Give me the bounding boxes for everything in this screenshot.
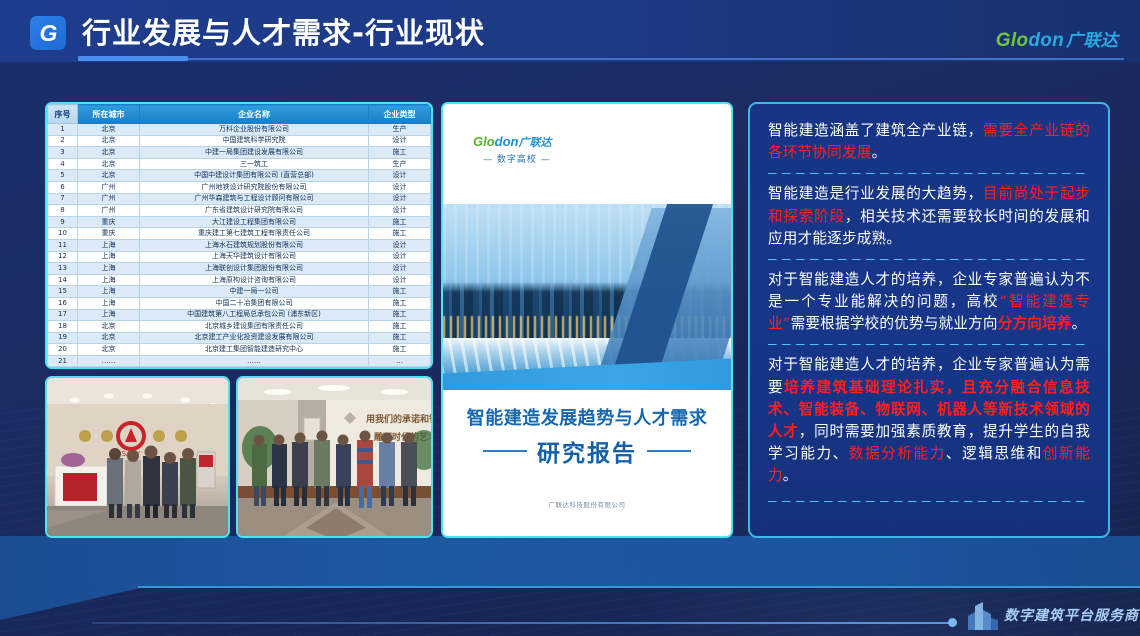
cell-company-name: 上海水石建筑规划股份有限公司	[140, 239, 369, 251]
insights-paragraph-p3: 对于智能建造人才的培养，企业专家普遍认为不是一个专业能解决的问题，高校“智能建造…	[768, 269, 1090, 336]
table-row: 7广州广州华森建筑与工程设计顾问有限公司设计	[48, 193, 431, 205]
text-segment: 。	[783, 467, 798, 484]
table-row: 18北京北京城乡建设集团有限责任公司施工	[48, 321, 431, 333]
building-icon	[966, 600, 1000, 630]
cover-title-line2: 研究报告	[537, 434, 637, 468]
cell-index: 21	[48, 355, 78, 367]
slide-root: G 行业发展与人才需求-行业现状 Glodon广联达 数字建筑平台服务商 序号 …	[0, 0, 1140, 636]
cell-index: 5	[48, 170, 78, 182]
cell-index: 3	[48, 147, 78, 159]
cell-company-type: 施工	[369, 228, 431, 240]
table-row: 15上海中建一局一公司施工	[48, 286, 431, 298]
cell-company-type: 施工	[369, 216, 431, 228]
cell-company-name: 上海联创设计集团股份有限公司	[140, 263, 369, 275]
cell-city: 北京	[78, 344, 140, 356]
cell-company-name: 广州地铁设计研究院股份有限公司	[140, 181, 369, 193]
cell-city: 广州	[78, 205, 140, 217]
col-header-type: 企业类型	[369, 105, 431, 124]
cell-company-type: 施工	[369, 321, 431, 333]
insights-paragraph-p4: 对于智能建造人才的培养，企业专家普遍认为需要培养建筑基础理论扎实，且充分融合信息…	[768, 354, 1090, 487]
text-segment: 需要根据学校的优势与就业方向	[791, 315, 998, 332]
cell-index: 12	[48, 251, 78, 263]
table-row: 1北京万科企业股份有限公司生产	[48, 124, 431, 136]
insights-text-panel: 智能建造涵盖了建筑全产业链，需要全产业链的各环节协同发展。智能建造是行业发展的大…	[748, 102, 1110, 538]
cell-company-name: 中国中建设计集团有限公司 (直营总部)	[140, 170, 369, 182]
table-row: 3北京中建一局集团建设发展有限公司施工	[48, 147, 431, 159]
cover-title-line2-row: 研究报告	[443, 434, 731, 468]
cover-logo-subtitle: — 数字高校 —	[483, 152, 551, 165]
cell-company-name: 广州华森建筑与工程设计顾问有限公司	[140, 193, 369, 205]
cell-company-type: 施工	[369, 286, 431, 298]
cell-index: 10	[48, 228, 78, 240]
footer-tagline: 数字建筑平台服务商	[1004, 605, 1139, 625]
page-title: 行业发展与人才需求-行业现状	[82, 8, 485, 54]
table-body: 1北京万科企业股份有限公司生产2北京中国建筑科学研究院设计3北京中建一局集团建设…	[48, 124, 431, 367]
cell-index: 20	[48, 344, 78, 356]
cover-brand-cn: 广联达	[519, 137, 552, 149]
cell-city: ……	[78, 355, 140, 367]
cell-company-name: 重庆建工第七建筑工程有限责任公司	[140, 228, 369, 240]
cell-city: 上海	[78, 309, 140, 321]
insights-paragraph-p1: 智能建造涵盖了建筑全产业链，需要全产业链的各环节协同发展。	[768, 120, 1090, 164]
table-row: 12上海上海天华建筑设计有限公司设计	[48, 251, 431, 263]
col-header-city: 所在城市	[78, 105, 140, 124]
text-segment: 数据分析能力	[849, 445, 946, 462]
cell-company-name: 中建一局集团建设发展有限公司	[140, 147, 369, 159]
cell-company-name: ……	[140, 355, 369, 367]
cell-company-name: 中国二十冶集团有限公司	[140, 297, 369, 309]
text-segment: 。	[872, 144, 887, 161]
cell-index: 17	[48, 309, 78, 321]
cover-title-rule-right	[647, 450, 691, 452]
glodon-g-icon: G	[30, 16, 66, 50]
glodon-brand-logo: Glodon广联达	[996, 26, 1118, 52]
cell-company-type: 施工	[369, 309, 431, 321]
cell-city: 北京	[78, 170, 140, 182]
cell-city: 上海	[78, 251, 140, 263]
cell-company-name: 中建一局一公司	[140, 286, 369, 298]
cell-company-type: 设计	[369, 251, 431, 263]
insights-divider	[768, 173, 1090, 174]
report-cover-panel: Glodon广联达 — 数字高校 — 智能建造发展趋势与人才需求 研究报告 广联…	[441, 102, 733, 538]
text-segment: 。	[1072, 315, 1087, 332]
cell-city: 广州	[78, 193, 140, 205]
table-header-row: 序号 所在城市 企业名称 企业类型	[48, 105, 431, 124]
cell-index: 9	[48, 216, 78, 228]
cell-company-name: 中国建筑第八工程局总承包公司 (浦东新区)	[140, 309, 369, 321]
cell-company-type: 设计	[369, 274, 431, 286]
cell-company-type: 施工	[369, 147, 431, 159]
svg-text:用我们的承诺和智慧: 用我们的承诺和智慧	[365, 413, 433, 425]
cell-index: 2	[48, 135, 78, 147]
cell-city: 北京	[78, 147, 140, 159]
company-table-panel: 序号 所在城市 企业名称 企业类型 1北京万科企业股份有限公司生产2北京中国建筑…	[45, 102, 433, 369]
cell-company-name: 北京建工集团智能建造研究中心	[140, 344, 369, 356]
title-underline-accent	[78, 56, 188, 61]
cell-company-name: 广东省建筑设计研究院有限公司	[140, 205, 369, 217]
cell-company-type: 生产	[369, 158, 431, 170]
cell-city: 上海	[78, 239, 140, 251]
cell-index: 4	[48, 158, 78, 170]
cell-index: 14	[48, 274, 78, 286]
footer-rule	[92, 622, 952, 624]
table-row: 9重庆大江建设工程集团有限公司施工	[48, 216, 431, 228]
cell-index: 18	[48, 321, 78, 333]
table-row: 20北京北京建工集团智能建造研究中心施工	[48, 344, 431, 356]
table-row: 6广州广州地铁设计研究院股份有限公司设计	[48, 181, 431, 193]
table-row: 2北京中国建筑科学研究院设计	[48, 135, 431, 147]
table-row: 11上海上海水石建筑规划股份有限公司设计	[48, 239, 431, 251]
cell-index: 15	[48, 286, 78, 298]
cell-company-name: 万科企业股份有限公司	[140, 124, 369, 136]
table-row: 14上海上海原构设计咨询有限公司设计	[48, 274, 431, 286]
cell-company-type: 施工	[369, 344, 431, 356]
cell-company-type: 设计	[369, 181, 431, 193]
cell-city: 广州	[78, 181, 140, 193]
text-segment: 、逻辑思维和	[946, 445, 1043, 462]
cell-company-type: 设计	[369, 263, 431, 275]
insights-paragraph-list: 智能建造涵盖了建筑全产业链，需要全产业链的各环节协同发展。智能建造是行业发展的大…	[768, 120, 1090, 487]
cell-city: 北京	[78, 124, 140, 136]
cell-city: 北京	[78, 321, 140, 333]
table-row: 10重庆重庆建工第七建筑工程有限责任公司施工	[48, 228, 431, 240]
table-row: 13上海上海联创设计集团股份有限公司设计	[48, 263, 431, 275]
cell-company-type: 设计	[369, 239, 431, 251]
cell-company-type: 设计	[369, 170, 431, 182]
cell-company-name: 上海天华建筑设计有限公司	[140, 251, 369, 263]
cell-company-name: 三一筑工	[140, 158, 369, 170]
insights-divider	[768, 344, 1090, 345]
cell-company-type: 设计	[369, 193, 431, 205]
cell-company-name: 北京城乡建设集团有限责任公司	[140, 321, 369, 333]
cell-city: 北京	[78, 135, 140, 147]
cell-company-type: …	[369, 355, 431, 367]
table-row: 5北京中国中建设计集团有限公司 (直营总部)设计	[48, 170, 431, 182]
text-segment: 分方向培养	[998, 315, 1072, 332]
cell-city: 上海	[78, 297, 140, 309]
table-row: 17上海中国建筑第八工程局总承包公司 (浦东新区)施工	[48, 309, 431, 321]
cell-city: 上海	[78, 274, 140, 286]
col-header-index: 序号	[48, 105, 78, 124]
cell-city: 北京	[78, 332, 140, 344]
cell-index: 1	[48, 124, 78, 136]
title-underline	[78, 58, 1124, 60]
cell-company-name: 上海原构设计咨询有限公司	[140, 274, 369, 286]
insights-divider	[768, 259, 1090, 260]
photo-company-visit-2: 用我们的承诺和智慧 雕琢时代的艺术品	[236, 376, 433, 538]
cover-brand-don: don	[495, 134, 519, 149]
cover-glodon-logo: Glodon广联达	[473, 134, 552, 150]
cell-company-name: 中国建筑科学研究院	[140, 135, 369, 147]
cell-city: 重庆	[78, 228, 140, 240]
table-row: 16上海中国二十冶集团有限公司施工	[48, 297, 431, 309]
cell-city: 上海	[78, 286, 140, 298]
table-row: 19北京北京建工产业化投资建设发展有限公司施工	[48, 332, 431, 344]
cell-index: 13	[48, 263, 78, 275]
brand-text-cn: 广联达	[1066, 31, 1118, 50]
cell-city: 北京	[78, 158, 140, 170]
cell-index: 11	[48, 239, 78, 251]
cover-title-line1: 智能建造发展趋势与人才需求	[443, 404, 731, 430]
cell-company-type: 生产	[369, 124, 431, 136]
cell-index: 6	[48, 181, 78, 193]
cover-title-rule-left	[483, 450, 527, 452]
brand-text-glo: Glo	[996, 30, 1029, 51]
table-row: 21……………	[48, 355, 431, 367]
cell-index: 7	[48, 193, 78, 205]
cell-company-type: 设计	[369, 205, 431, 217]
footer-dot	[948, 618, 957, 627]
cell-index: 16	[48, 297, 78, 309]
cell-company-name: 北京建工产业化投资建设发展有限公司	[140, 332, 369, 344]
cell-city: 上海	[78, 263, 140, 275]
text-segment: 智能建造涵盖了建筑全产业链，	[768, 122, 983, 139]
cell-company-type: 施工	[369, 332, 431, 344]
cell-company-type: 施工	[369, 297, 431, 309]
company-table: 序号 所在城市 企业名称 企业类型 1北京万科企业股份有限公司生产2北京中国建筑…	[47, 104, 431, 367]
cell-index: 8	[48, 205, 78, 217]
insights-paragraph-p2: 智能建造是行业发展的大趋势，目前尚处于起步和探索阶段，相关技术还需要较长时间的发…	[768, 183, 1090, 250]
insights-divider-bottom	[768, 501, 1090, 502]
cover-company-name: 广联达科技股份有限公司	[443, 499, 731, 509]
table-header: 序号 所在城市 企业名称 企业类型	[48, 105, 431, 124]
table-row: 8广州广东省建筑设计研究院有限公司设计	[48, 205, 431, 217]
photo-company-visit-1: SANY	[45, 376, 230, 538]
cell-index: 19	[48, 332, 78, 344]
cell-company-name: 大江建设工程集团有限公司	[140, 216, 369, 228]
cell-city: 重庆	[78, 216, 140, 228]
table-row: 4北京三一筑工生产	[48, 158, 431, 170]
text-segment: 智能建造是行业发展的大趋势，	[768, 185, 983, 202]
cell-company-type: 设计	[369, 135, 431, 147]
cover-brand-glo: Glo	[473, 134, 495, 149]
col-header-company: 企业名称	[140, 105, 369, 124]
brand-text-don: don	[1028, 30, 1064, 51]
